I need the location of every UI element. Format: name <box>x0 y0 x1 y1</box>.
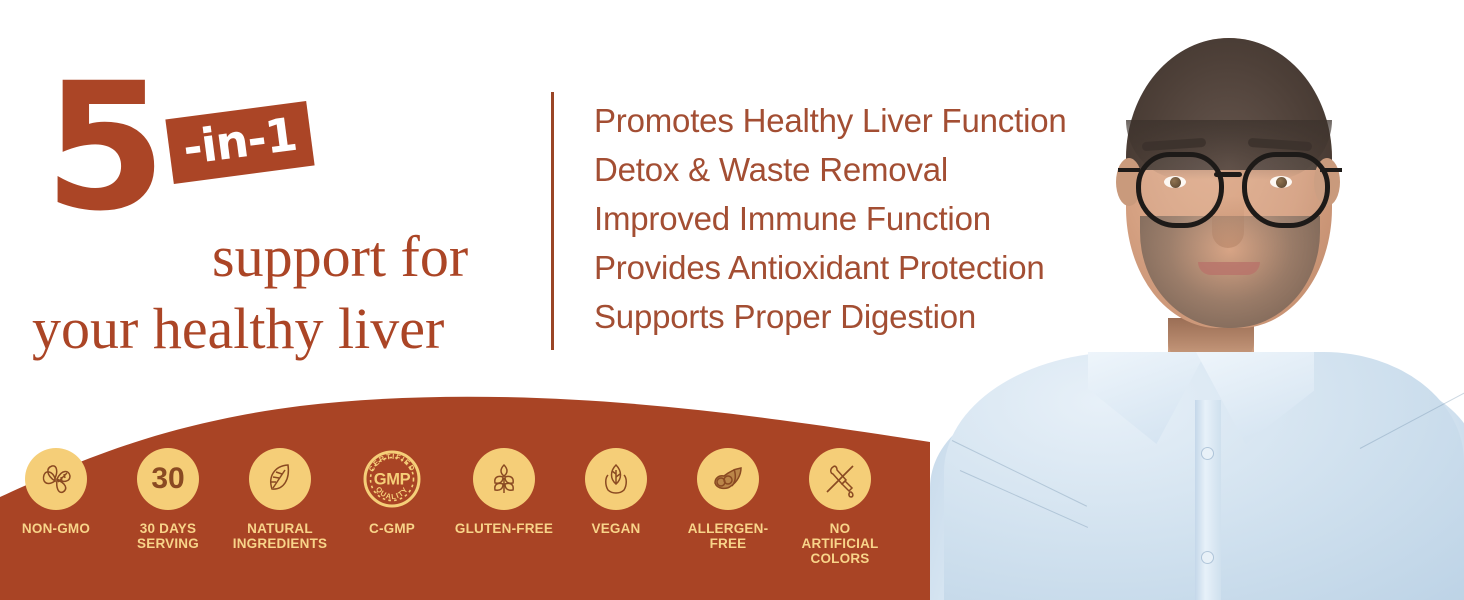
badge-icon-circle: CERTIFIED QUALITY GMP <box>361 448 423 510</box>
badge-icon-circle: 30 <box>137 448 199 510</box>
shirt-button <box>1202 552 1213 563</box>
badge-gluten-free: GLUTEN-FREE <box>448 448 560 536</box>
hands-plant-icon <box>596 459 636 499</box>
butterfly-leaf-icon <box>36 459 76 499</box>
shirt-button <box>1202 448 1213 459</box>
badge-label: NON-GMO <box>22 521 90 536</box>
badge-icon-circle <box>585 448 647 510</box>
in-one-tag: -in-1 <box>165 101 314 184</box>
dropper-no-icon <box>820 459 860 499</box>
badge-icon-circle <box>249 448 311 510</box>
badge-label: C-GMP <box>369 521 415 536</box>
headline-line-2: your healthy liver <box>32 300 444 358</box>
svg-text:GMP: GMP <box>374 471 411 489</box>
badge-c-gmp: CERTIFIED QUALITY GMP C-GMP <box>336 448 448 536</box>
model-photo <box>930 0 1464 600</box>
glasses-lens-left <box>1136 152 1224 228</box>
badge-non-gmo: NON-GMO <box>0 448 112 536</box>
badge-icon-circle <box>809 448 871 510</box>
headline-line-1: support for <box>212 228 468 286</box>
vertical-divider <box>551 92 554 350</box>
certification-badges: NON-GMO 30 30 DAYS SERVING NATURAL INGRE… <box>0 448 930 600</box>
badge-icon-circle <box>697 448 759 510</box>
badge-label: NATURAL INGREDIENTS <box>233 521 327 551</box>
badge-no-artificial-colors: NO ARTIFICIAL COLORS <box>784 448 896 566</box>
badge-icon-circle <box>473 448 535 510</box>
number-icon: 30 <box>151 462 184 496</box>
badge-label: 30 DAYS SERVING <box>137 521 199 551</box>
gmp-stamp-icon: CERTIFIED QUALITY GMP <box>361 448 423 510</box>
five-number: 5 <box>44 60 160 236</box>
headline-block: 5 -in-1 support for your healthy liver <box>34 78 534 318</box>
badge-allergen-free: ALLERGEN- FREE <box>672 448 784 551</box>
wheat-icon <box>484 459 524 499</box>
badge-label: VEGAN <box>591 521 640 536</box>
badge-vegan: VEGAN <box>560 448 672 536</box>
badge-label: NO ARTIFICIAL COLORS <box>802 521 879 566</box>
mouth <box>1198 262 1260 275</box>
badge-label: ALLERGEN- FREE <box>688 521 769 551</box>
peanut-icon <box>708 459 748 499</box>
badge-icon-circle <box>25 448 87 510</box>
glasses-bridge <box>1214 172 1242 177</box>
glasses-temple-left <box>1118 168 1140 172</box>
badge-natural-ingredients: NATURAL INGREDIENTS <box>224 448 336 551</box>
shirt-placket <box>1195 400 1221 600</box>
product-banner: 5 -in-1 support for your healthy liver P… <box>0 0 1464 600</box>
glasses-lens-right <box>1242 152 1330 228</box>
badge-label: GLUTEN-FREE <box>455 521 553 536</box>
badge-30-days-serving: 30 30 DAYS SERVING <box>112 448 224 551</box>
leaf-icon <box>260 459 300 499</box>
